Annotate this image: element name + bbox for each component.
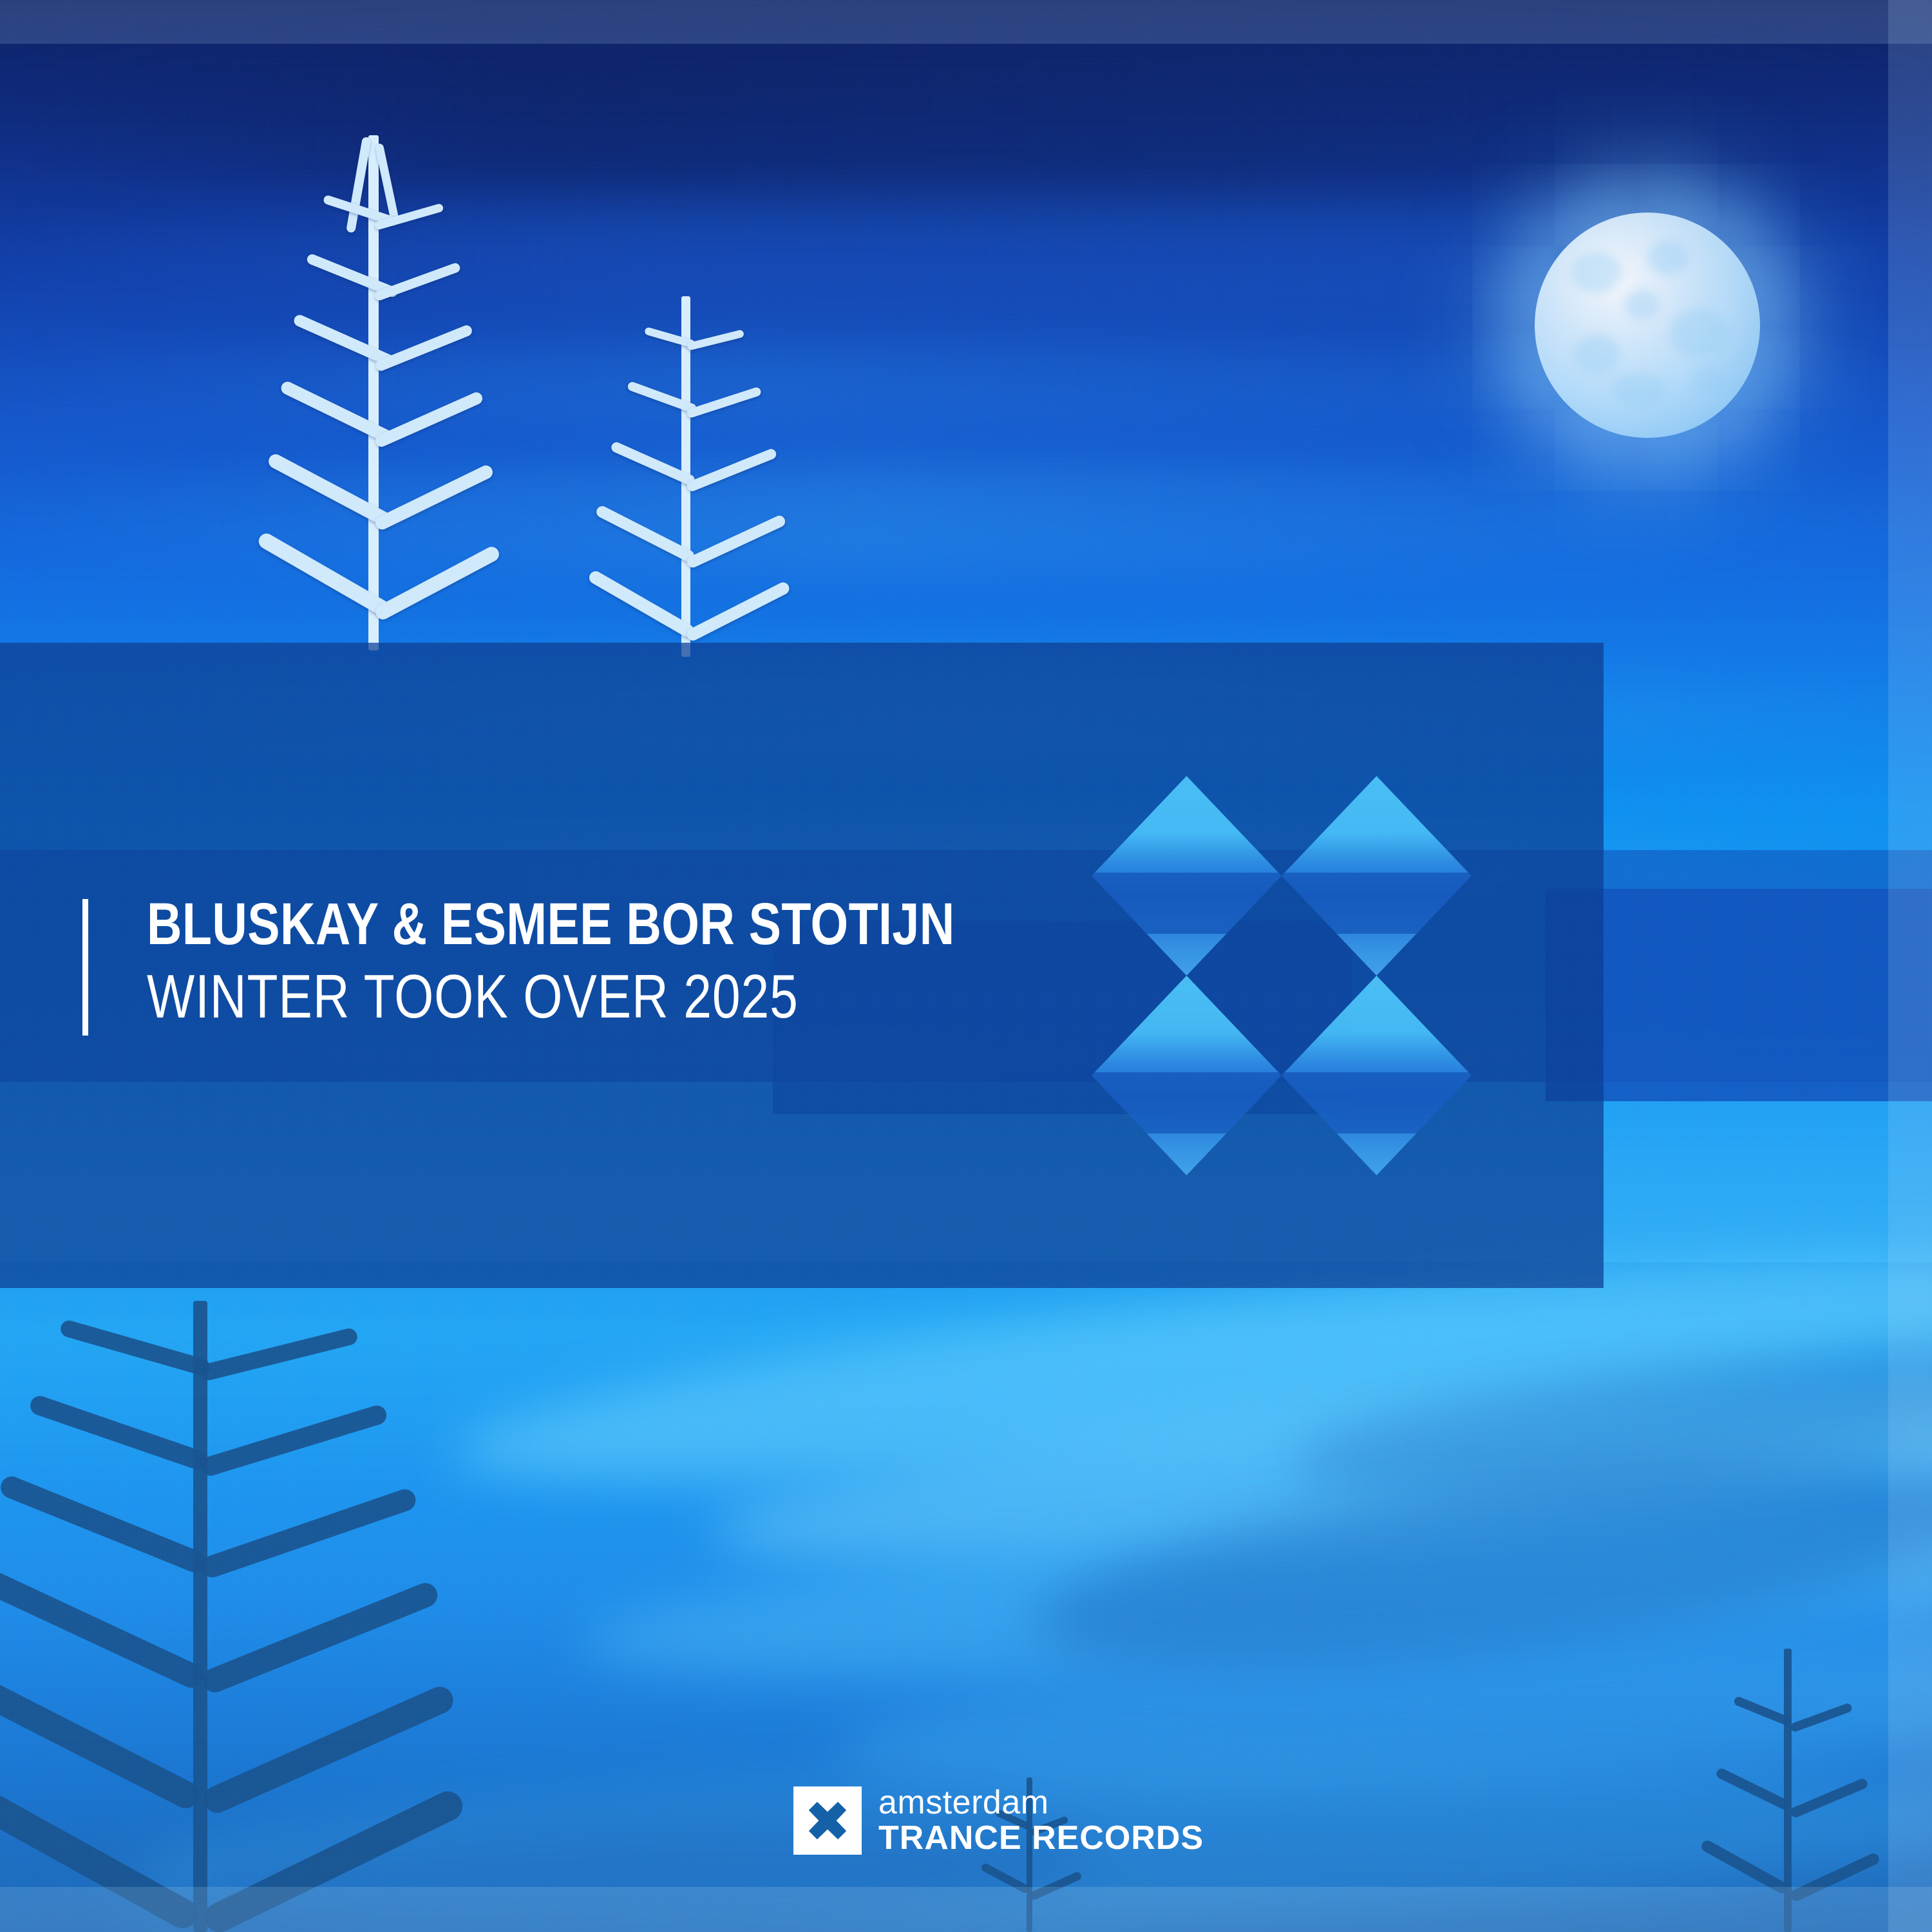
label-x-mark-icon <box>793 1786 862 1855</box>
label-name-trance-records: TRANCE RECORDS <box>878 1820 1204 1856</box>
moon-crater <box>1693 367 1727 395</box>
moon-crater <box>1572 252 1622 292</box>
x-bowtie-emblem <box>1092 776 1472 1175</box>
emblem-diamond-bottom-right <box>1282 976 1472 1175</box>
foreground-spruce-cluster <box>0 1301 451 1932</box>
moon-crater <box>1625 290 1658 319</box>
emblem-diamond-top-left <box>1092 776 1282 976</box>
full-moon <box>1535 213 1760 438</box>
emblem-diamond-bottom-left <box>1092 976 1282 1175</box>
label-wordmark: amsterdam TRANCE RECORDS <box>878 1785 1204 1856</box>
label-name-amsterdam: amsterdam <box>878 1785 1204 1820</box>
emblem-diamond-top-right <box>1282 776 1472 976</box>
foreground-spruce-sprig <box>1687 1649 1893 1932</box>
mountain-ridge-right <box>1546 889 1932 1101</box>
moon-crater <box>1575 335 1620 374</box>
moon-crater <box>1648 241 1688 274</box>
album-cover: BLUSKAY & ESMEE BOR STOTIJN WINTER TOOK … <box>0 0 1932 1932</box>
release-title: WINTER TOOK OVER 2025 <box>147 962 939 1032</box>
title-block: BLUSKAY & ESMEE BOR STOTIJN WINTER TOOK … <box>147 890 1113 1032</box>
title-accent-rule <box>82 899 88 1036</box>
moon-crater <box>1670 309 1728 357</box>
frosted-spruce-tree <box>580 296 792 657</box>
moon-crater <box>1612 374 1666 407</box>
record-label-logo: amsterdam TRANCE RECORDS <box>793 1785 1204 1856</box>
frosted-spruce-tree <box>245 135 502 650</box>
artist-name: BLUSKAY & ESMEE BOR STOTIJN <box>147 890 939 958</box>
